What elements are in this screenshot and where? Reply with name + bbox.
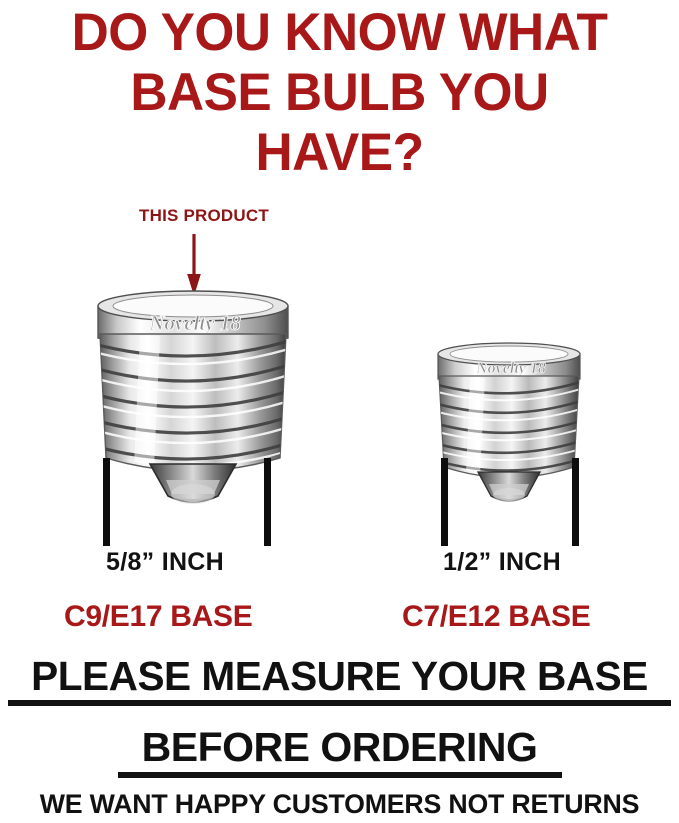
notice-underline-2 <box>118 772 562 778</box>
base-label-c7-e12: C7/E12 BASE <box>402 600 590 634</box>
headline-line-1: DO YOU KNOW WHAT <box>10 6 669 59</box>
notice-before-ordering: BEFORE ORDERING <box>0 727 679 768</box>
notice-measure-base: PLEASE MEASURE YOUR BASE <box>3 656 675 697</box>
base-label-c9-e17: C9/E17 BASE <box>64 600 252 634</box>
measure-tick-large-left <box>103 458 110 546</box>
bulb-small-emboss-text: Novelty 18 <box>475 360 546 377</box>
measure-tick-small-right <box>572 458 579 546</box>
measure-label-large: 5/8” INCH <box>106 548 224 577</box>
measure-tick-small-left <box>441 458 448 546</box>
notice-underline-1 <box>8 700 671 706</box>
this-product-label: THIS PRODUCT <box>104 206 304 226</box>
infographic-canvas: DO YOU KNOW WHAT BASE BULB YOU HAVE? THI… <box>0 0 679 823</box>
notice-happy-customers: WE WANT HAPPY CUSTOMERS NOT RETURNS <box>3 791 675 818</box>
headline-line-3: HAVE? <box>10 126 669 179</box>
measure-label-small: 1/2” INCH <box>443 548 561 577</box>
measure-tick-large-right <box>264 458 271 546</box>
bulb-large-emboss-text: Novelty 18 <box>148 311 241 335</box>
headline-line-2: BASE BULB YOU <box>10 66 669 119</box>
bulb-base-small-c7-e12: Novelty 18 <box>430 336 588 516</box>
